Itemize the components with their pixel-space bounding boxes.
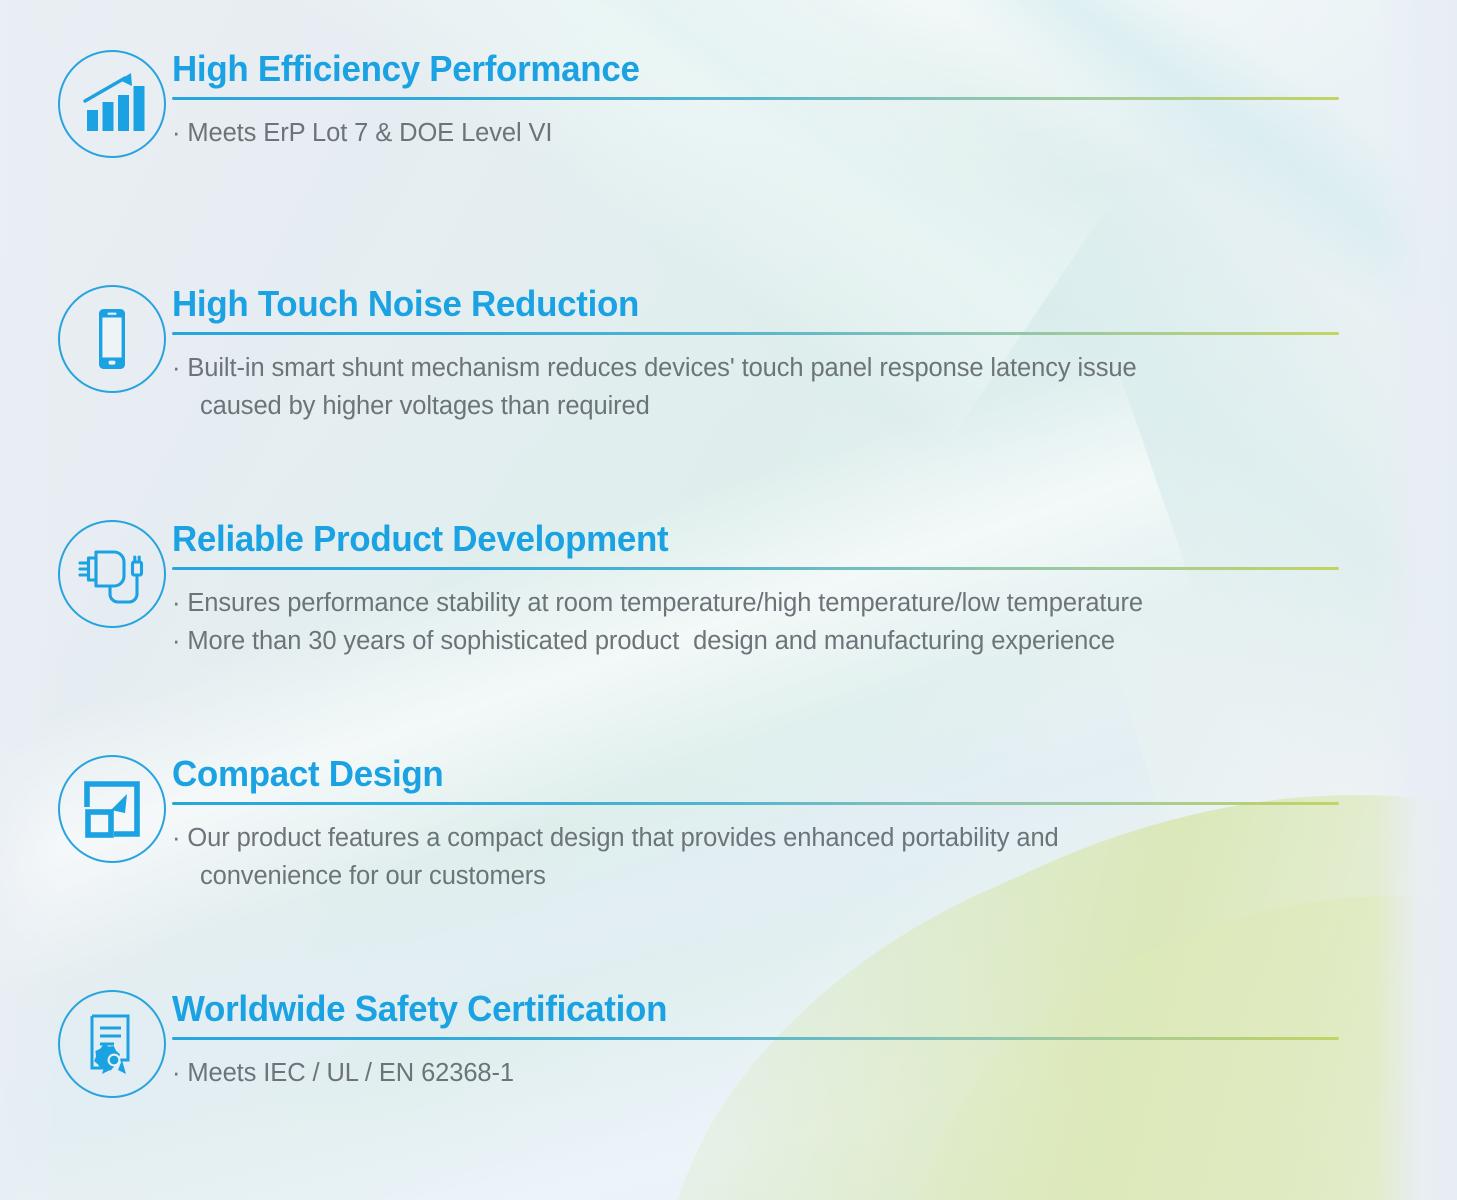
feature-icon-wrap <box>52 518 172 628</box>
feature-icon-wrap <box>52 283 172 393</box>
power-adapter-icon <box>58 520 166 628</box>
feature-item-high-efficiency-performance: High Efficiency Performance · Meets ErP … <box>52 48 1339 158</box>
feature-divider-rule <box>172 567 1339 570</box>
feature-divider-rule <box>172 1037 1339 1040</box>
feature-title: High Efficiency Performance <box>172 48 1304 90</box>
feature-bullet: · More than 30 years of sophisticated pr… <box>172 622 1339 660</box>
feature-bullet: · Meets IEC / UL / EN 62368-1 <box>172 1054 1339 1092</box>
feature-title: High Touch Noise Reduction <box>172 283 1304 325</box>
feature-bullet: · Our product features a compact design … <box>172 819 1339 895</box>
feature-divider-rule <box>172 332 1339 335</box>
feature-icon-wrap <box>52 988 172 1098</box>
certificate-ribbon-icon <box>58 990 166 1098</box>
feature-title: Reliable Product Development <box>172 518 1304 560</box>
smartphone-icon <box>58 285 166 393</box>
feature-icon-wrap <box>52 48 172 158</box>
feature-item-compact-design: Compact Design · Our product features a … <box>52 753 1339 895</box>
feature-bullets: · Meets ErP Lot 7 & DOE Level VI <box>172 114 1339 152</box>
feature-title: Worldwide Safety Certification <box>172 988 1304 1030</box>
feature-body: High Touch Noise Reduction · Built-in sm… <box>172 283 1339 425</box>
feature-item-worldwide-safety-certification: Worldwide Safety Certification · Meets I… <box>52 988 1339 1098</box>
compact-resize-icon <box>58 755 166 863</box>
feature-bullet: · Meets ErP Lot 7 & DOE Level VI <box>172 114 1339 152</box>
feature-icon-wrap <box>52 753 172 863</box>
feature-divider-rule <box>172 802 1339 805</box>
feature-bullets: · Ensures performance stability at room … <box>172 584 1339 660</box>
feature-bullet: · Built-in smart shunt mechanism reduces… <box>172 349 1339 425</box>
feature-item-reliable-product-development: Reliable Product Development · Ensures p… <box>52 518 1339 660</box>
feature-bullets: · Our product features a compact design … <box>172 819 1339 895</box>
feature-divider-rule <box>172 97 1339 100</box>
feature-body: Compact Design · Our product features a … <box>172 753 1339 895</box>
feature-title: Compact Design <box>172 753 1304 795</box>
feature-bullets: · Meets IEC / UL / EN 62368-1 <box>172 1054 1339 1092</box>
feature-list-page: High Efficiency Performance · Meets ErP … <box>0 0 1457 1200</box>
feature-body: High Efficiency Performance · Meets ErP … <box>172 48 1339 152</box>
feature-bullet: · Ensures performance stability at room … <box>172 584 1339 622</box>
bar-chart-growth-icon <box>58 50 166 158</box>
feature-body: Worldwide Safety Certification · Meets I… <box>172 988 1339 1092</box>
feature-body: Reliable Product Development · Ensures p… <box>172 518 1339 660</box>
feature-bullets: · Built-in smart shunt mechanism reduces… <box>172 349 1339 425</box>
feature-item-high-touch-noise-reduction: High Touch Noise Reduction · Built-in sm… <box>52 283 1339 425</box>
